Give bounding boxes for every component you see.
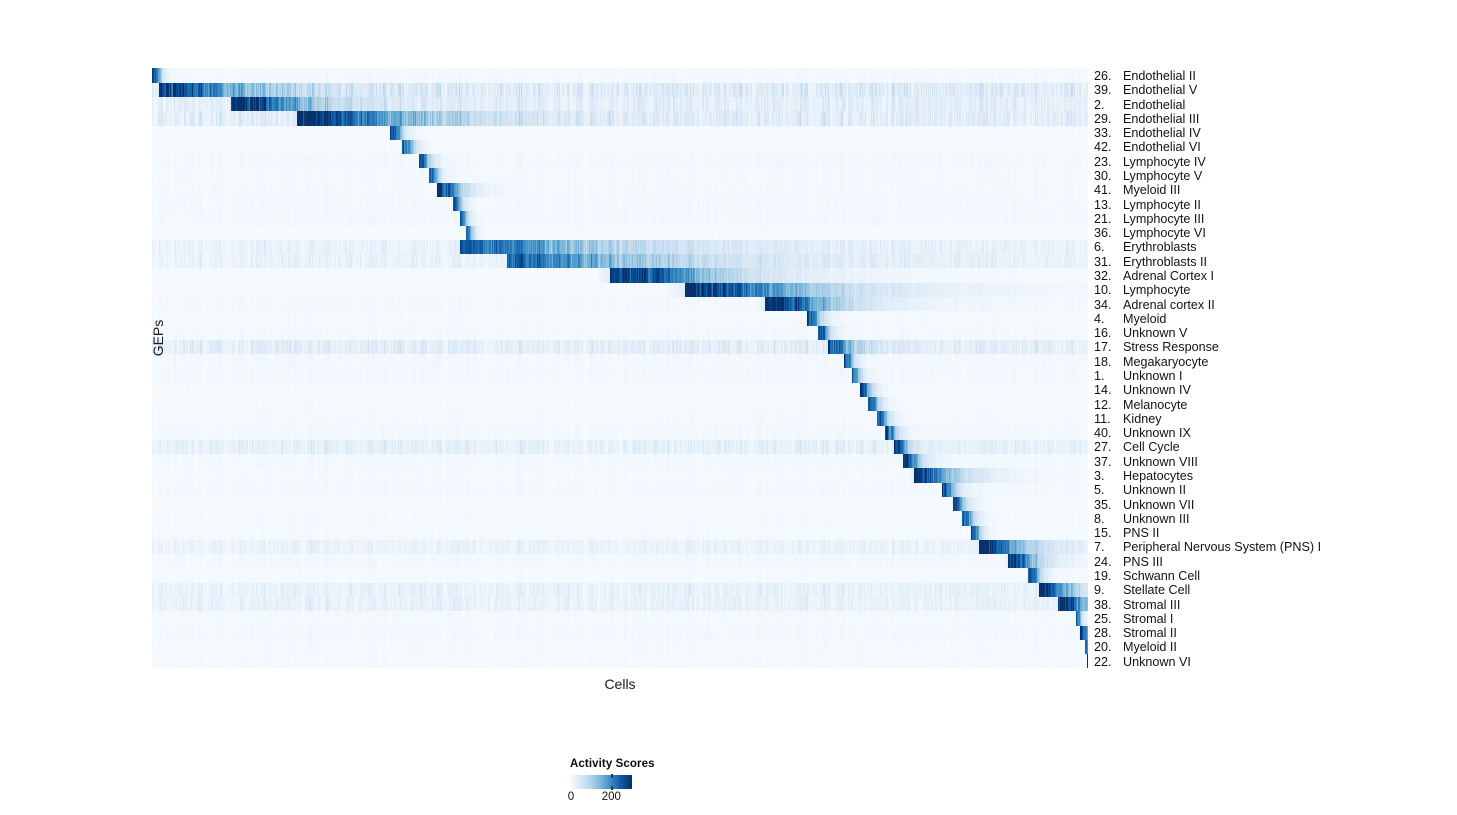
row-label-name: Lymphocyte	[1116, 283, 1190, 297]
row-label-number: 31.	[1094, 255, 1116, 269]
heatmap-plot-area	[152, 68, 1088, 668]
row-label-number: 5.	[1094, 483, 1116, 497]
y-axis-title: GEPs	[150, 298, 166, 378]
row-label-name: Kidney	[1116, 412, 1162, 426]
row-label-number: 36.	[1094, 226, 1116, 240]
x-axis-title: Cells	[152, 676, 1088, 692]
row-label-number: 14.	[1094, 383, 1116, 397]
row-label-name: Endothelial IV	[1116, 126, 1201, 140]
colorbar-gradient	[570, 775, 632, 789]
row-label: 31.Erythroblasts II	[1094, 255, 1207, 269]
row-label-name: Lymphocyte II	[1116, 198, 1201, 212]
row-label-number: 40.	[1094, 426, 1116, 440]
row-label-name: Stress Response	[1116, 340, 1219, 354]
row-label-number: 15.	[1094, 526, 1116, 540]
heatmap-figure: GEPs Cells 26.Endothelial II39.Endotheli…	[0, 0, 1457, 815]
row-label-number: 32.	[1094, 269, 1116, 283]
row-label-name: Endothelial III	[1116, 112, 1199, 126]
colorbar-bar-wrap	[500, 775, 760, 789]
row-label-name: Stellate Cell	[1116, 583, 1190, 597]
row-label: 4.Myeloid	[1094, 312, 1166, 326]
row-label-number: 6.	[1094, 240, 1116, 254]
row-label-name: Endothelial VI	[1116, 140, 1201, 154]
row-label: 25.Stromal I	[1094, 612, 1173, 626]
row-label-number: 28.	[1094, 626, 1116, 640]
row-label-number: 21.	[1094, 212, 1116, 226]
row-label-name: Hepatocytes	[1116, 469, 1193, 483]
row-label-number: 30.	[1094, 169, 1116, 183]
row-label-number: 35.	[1094, 498, 1116, 512]
row-label-name: Endothelial V	[1116, 83, 1197, 97]
row-label: 38.Stromal III	[1094, 598, 1180, 612]
row-label: 19.Schwann Cell	[1094, 569, 1200, 583]
colorbar-tick	[611, 786, 613, 790]
row-label: 11.Kidney	[1094, 412, 1162, 426]
row-label-number: 24.	[1094, 555, 1116, 569]
row-label-number: 26.	[1094, 69, 1116, 83]
row-label-name: Unknown IX	[1116, 426, 1191, 440]
row-label-name: Stromal I	[1116, 612, 1173, 626]
row-label-name: Myeloid III	[1116, 183, 1180, 197]
row-label: 27.Cell Cycle	[1094, 440, 1180, 454]
row-label: 32.Adrenal Cortex I	[1094, 269, 1214, 283]
row-label: 39.Endothelial V	[1094, 83, 1197, 97]
row-label: 40.Unknown IX	[1094, 426, 1191, 440]
row-label-number: 12.	[1094, 398, 1116, 412]
row-label-number: 39.	[1094, 83, 1116, 97]
row-label-number: 20.	[1094, 640, 1116, 654]
row-label: 14.Unknown IV	[1094, 383, 1191, 397]
row-label-name: Lymphocyte VI	[1116, 226, 1206, 240]
row-label-name: Unknown VII	[1116, 498, 1194, 512]
row-label: 37.Unknown VIII	[1094, 455, 1198, 469]
row-label: 17.Stress Response	[1094, 340, 1219, 354]
row-label-name: Unknown IV	[1116, 383, 1191, 397]
row-label-name: Stromal II	[1116, 626, 1177, 640]
row-label-name: Cell Cycle	[1116, 440, 1180, 454]
colorbar-legend: Activity Scores 0200	[500, 758, 760, 807]
row-label-name: Megakaryocyte	[1116, 355, 1208, 369]
row-label-number: 7.	[1094, 540, 1116, 554]
row-label: 30.Lymphocyte V	[1094, 169, 1202, 183]
row-label-number: 23.	[1094, 155, 1116, 169]
row-label: 1.Unknown I	[1094, 369, 1183, 383]
row-label-number: 18.	[1094, 355, 1116, 369]
row-label: 42.Endothelial VI	[1094, 140, 1201, 154]
row-label-name: Unknown V	[1116, 326, 1187, 340]
row-label-number: 3.	[1094, 469, 1116, 483]
row-label-name: Myeloid	[1116, 312, 1166, 326]
row-label-name: Unknown I	[1116, 369, 1183, 383]
row-label-name: Adrenal Cortex I	[1116, 269, 1214, 283]
row-label: 13.Lymphocyte II	[1094, 198, 1201, 212]
row-label-name: PNS II	[1116, 526, 1159, 540]
row-label: 6.Erythroblasts	[1094, 240, 1197, 254]
row-label-name: Unknown VIII	[1116, 455, 1198, 469]
row-label-number: 34.	[1094, 298, 1116, 312]
row-label: 9.Stellate Cell	[1094, 583, 1190, 597]
row-label: 24.PNS III	[1094, 555, 1163, 569]
colorbar-tick-label: 0	[568, 791, 574, 803]
row-label: 10.Lymphocyte	[1094, 283, 1190, 297]
colorbar-tick-label: 200	[602, 791, 621, 803]
row-label-number: 17.	[1094, 340, 1116, 354]
row-label-number: 8.	[1094, 512, 1116, 526]
row-label: 3.Hepatocytes	[1094, 469, 1193, 483]
row-label-number: 11.	[1094, 412, 1116, 426]
row-label-name: Myeloid II	[1116, 640, 1177, 654]
row-label: 35.Unknown VII	[1094, 498, 1194, 512]
heatmap-image	[152, 68, 1088, 668]
row-label-name: Unknown VI	[1116, 655, 1191, 669]
colorbar-tick-labels: 0200	[500, 791, 760, 807]
row-label: 2.Endothelial	[1094, 98, 1185, 112]
row-label-number: 1.	[1094, 369, 1116, 383]
row-label-number: 13.	[1094, 198, 1116, 212]
row-label: 5.Unknown II	[1094, 483, 1186, 497]
row-label: 22.Unknown VI	[1094, 655, 1191, 669]
row-label: 15.PNS II	[1094, 526, 1159, 540]
row-label: 41.Myeloid III	[1094, 183, 1180, 197]
row-label: 21.Lymphocyte III	[1094, 212, 1204, 226]
row-label-name: Stromal III	[1116, 598, 1180, 612]
row-label-number: 42.	[1094, 140, 1116, 154]
row-label-name: Endothelial	[1116, 98, 1185, 112]
row-label-name: PNS III	[1116, 555, 1163, 569]
row-label: 12.Melanocyte	[1094, 398, 1187, 412]
row-label: 33.Endothelial IV	[1094, 126, 1201, 140]
row-label-list: 26.Endothelial II39.Endothelial V2.Endot…	[1094, 68, 1454, 672]
row-label: 20.Myeloid II	[1094, 640, 1177, 654]
row-label-number: 38.	[1094, 598, 1116, 612]
row-label: 29.Endothelial III	[1094, 112, 1199, 126]
row-label-name: Erythroblasts II	[1116, 255, 1207, 269]
row-label-number: 29.	[1094, 112, 1116, 126]
row-label-name: Lymphocyte V	[1116, 169, 1202, 183]
row-label-name: Endothelial II	[1116, 69, 1196, 83]
row-label-number: 33.	[1094, 126, 1116, 140]
row-label-name: Peripheral Nervous System (PNS) I	[1116, 540, 1321, 554]
row-label: 18.Megakaryocyte	[1094, 355, 1208, 369]
row-label: 34.Adrenal cortex II	[1094, 298, 1215, 312]
row-label-name: Melanocyte	[1116, 398, 1187, 412]
row-label-name: Schwann Cell	[1116, 569, 1200, 583]
row-label-number: 22.	[1094, 655, 1116, 669]
row-label-name: Unknown II	[1116, 483, 1186, 497]
row-label-number: 19.	[1094, 569, 1116, 583]
row-label-name: Adrenal cortex II	[1116, 298, 1215, 312]
row-label-number: 10.	[1094, 283, 1116, 297]
row-label: 28.Stromal II	[1094, 626, 1177, 640]
row-label: 7.Peripheral Nervous System (PNS) I	[1094, 540, 1321, 554]
row-label: 26.Endothelial II	[1094, 69, 1196, 83]
row-label-number: 2.	[1094, 98, 1116, 112]
row-label: 23.Lymphocyte IV	[1094, 155, 1206, 169]
row-label-number: 37.	[1094, 455, 1116, 469]
row-label-number: 4.	[1094, 312, 1116, 326]
row-label-number: 25.	[1094, 612, 1116, 626]
colorbar-tick	[611, 774, 613, 778]
row-label-number: 16.	[1094, 326, 1116, 340]
row-label-name: Lymphocyte III	[1116, 212, 1204, 226]
row-label-name: Erythroblasts	[1116, 240, 1197, 254]
row-label: 36.Lymphocyte VI	[1094, 226, 1206, 240]
row-label-name: Unknown III	[1116, 512, 1190, 526]
row-label-number: 27.	[1094, 440, 1116, 454]
row-label-name: Lymphocyte IV	[1116, 155, 1206, 169]
row-label-number: 9.	[1094, 583, 1116, 597]
row-label: 16.Unknown V	[1094, 326, 1187, 340]
row-label: 8.Unknown III	[1094, 512, 1190, 526]
colorbar-title: Activity Scores	[500, 758, 760, 770]
row-label-number: 41.	[1094, 183, 1116, 197]
